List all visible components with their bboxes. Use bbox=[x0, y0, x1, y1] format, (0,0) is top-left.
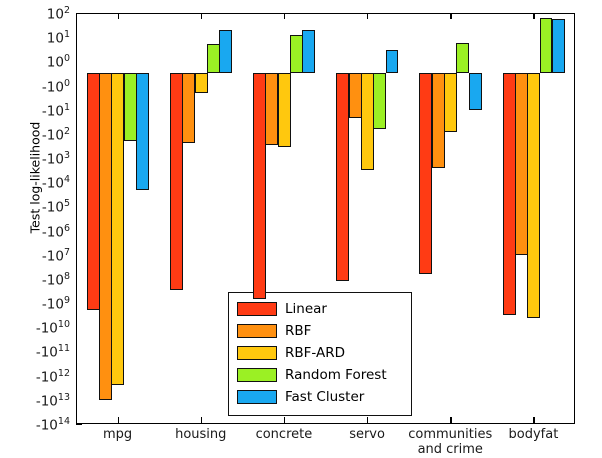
bar bbox=[219, 30, 232, 74]
y-tick-label: -100 bbox=[0, 79, 76, 95]
y-tick-label: -103 bbox=[0, 151, 76, 167]
legend-item[interactable]: Fast Cluster bbox=[235, 386, 405, 408]
bar bbox=[195, 73, 208, 92]
x-tick-mark bbox=[367, 13, 368, 19]
bar bbox=[373, 73, 386, 128]
legend-label: Fast Cluster bbox=[285, 389, 364, 405]
y-tick-mark bbox=[76, 424, 82, 425]
x-tick-mark bbox=[533, 13, 534, 19]
legend-label: Random Forest bbox=[285, 367, 387, 383]
bar bbox=[515, 73, 528, 254]
x-tick-mark bbox=[284, 13, 285, 19]
legend-item[interactable]: RBF-ARD bbox=[235, 342, 405, 364]
x-tick-label-line2: and crime bbox=[418, 442, 483, 457]
bar bbox=[540, 18, 553, 73]
legend-item[interactable]: RBF bbox=[235, 320, 405, 342]
legend-label: RBF-ARD bbox=[285, 345, 345, 361]
y-tick-label: -1013 bbox=[0, 393, 76, 409]
bar bbox=[349, 73, 362, 118]
y-tick-label: -108 bbox=[0, 272, 76, 288]
bar bbox=[170, 73, 183, 290]
bar bbox=[99, 73, 112, 399]
bar bbox=[444, 73, 457, 131]
y-tick-label: 101 bbox=[0, 30, 76, 46]
legend-swatch bbox=[237, 368, 277, 382]
bar bbox=[124, 73, 137, 141]
bar bbox=[253, 73, 266, 299]
x-tick-mark bbox=[118, 417, 119, 423]
bar bbox=[456, 43, 469, 74]
bar bbox=[419, 73, 432, 273]
bar bbox=[552, 19, 565, 73]
bar bbox=[278, 73, 291, 147]
y-tick-label: 102 bbox=[0, 6, 76, 22]
bar bbox=[432, 73, 445, 167]
y-tick-label: -104 bbox=[0, 175, 76, 191]
y-tick-label: 100 bbox=[0, 54, 76, 70]
y-tick-label: -105 bbox=[0, 199, 76, 215]
legend-label: RBF bbox=[285, 323, 311, 339]
y-tick-label: -1011 bbox=[0, 344, 76, 360]
bar bbox=[302, 30, 315, 74]
x-tick-mark bbox=[533, 417, 534, 423]
y-tick-label: -109 bbox=[0, 296, 76, 312]
x-tick-mark bbox=[450, 13, 451, 19]
bar bbox=[336, 73, 349, 280]
y-tick-label: -1010 bbox=[0, 320, 76, 336]
x-tick-mark bbox=[201, 417, 202, 423]
x-tick-label-line1: bodyfat bbox=[509, 427, 559, 442]
x-tick-label-line1: mpg bbox=[103, 427, 132, 442]
y-tick-label: -107 bbox=[0, 248, 76, 264]
bar bbox=[290, 35, 303, 73]
legend-swatch bbox=[237, 302, 277, 316]
x-tick-mark bbox=[450, 417, 451, 423]
x-tick-mark bbox=[118, 13, 119, 19]
legend-label: Linear bbox=[285, 301, 327, 317]
y-tick-label: -106 bbox=[0, 224, 76, 240]
bar bbox=[503, 73, 516, 314]
legend-item[interactable]: Random Forest bbox=[235, 364, 405, 386]
bar bbox=[265, 73, 278, 145]
legend-item[interactable]: Linear bbox=[235, 298, 405, 320]
x-tick-label: bodyfat bbox=[463, 428, 602, 443]
y-tick-label: -1012 bbox=[0, 369, 76, 385]
bar bbox=[527, 73, 540, 317]
bar bbox=[469, 73, 482, 109]
legend-swatch bbox=[237, 390, 277, 404]
x-tick-mark bbox=[284, 417, 285, 423]
bar bbox=[361, 73, 374, 169]
bar bbox=[87, 73, 100, 310]
legend[interactable]: LinearRBFRBF-ARDRandom ForestFast Cluste… bbox=[228, 292, 412, 416]
y-tick-label: -102 bbox=[0, 127, 76, 143]
bar bbox=[111, 73, 124, 385]
bar bbox=[182, 73, 195, 143]
x-tick-mark bbox=[367, 417, 368, 423]
x-tick-mark bbox=[201, 13, 202, 19]
bar bbox=[136, 73, 149, 189]
legend-swatch bbox=[237, 324, 277, 338]
figure: Test log-likelihood 102101100-100-101-10… bbox=[0, 0, 602, 458]
bar bbox=[386, 50, 399, 74]
legend-swatch bbox=[237, 346, 277, 360]
y-tick-label: -101 bbox=[0, 103, 76, 119]
bar bbox=[207, 44, 220, 73]
